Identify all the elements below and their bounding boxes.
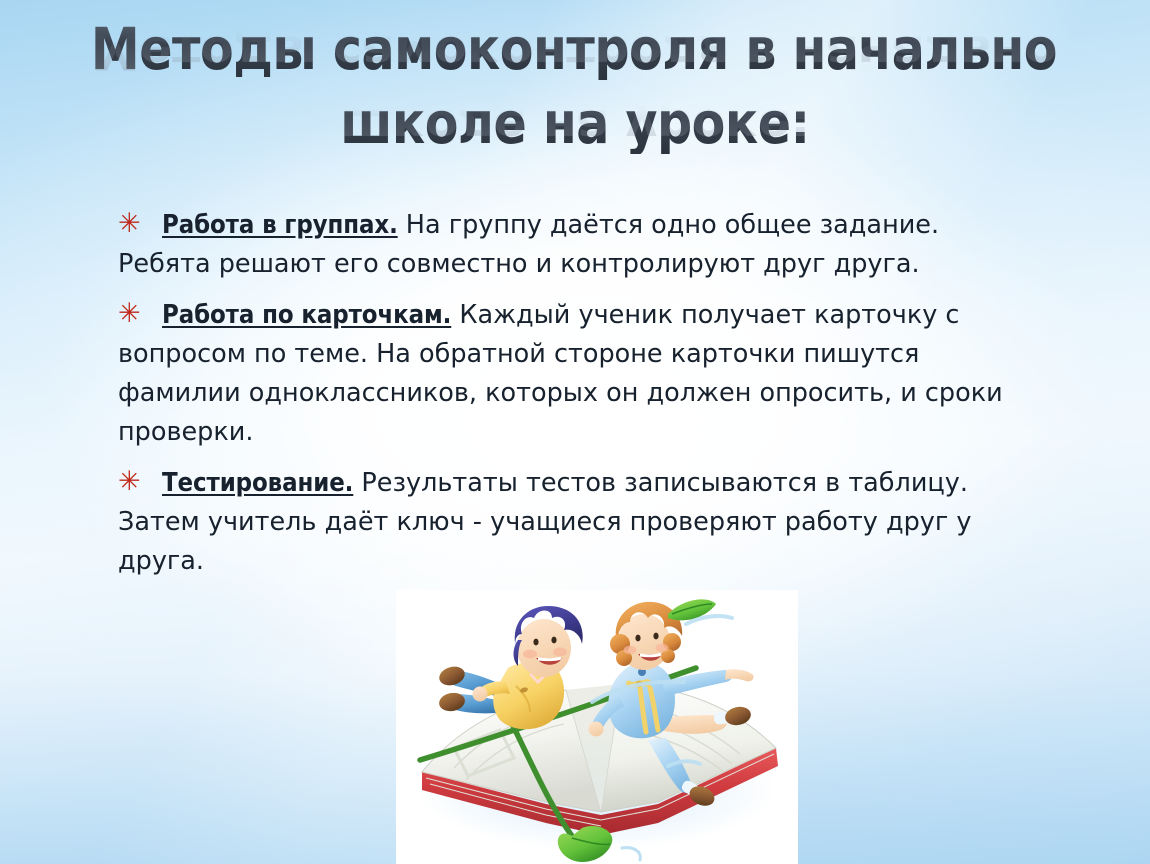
title-line-1: Методы самоконтроля в начальной — [91, 18, 1059, 80]
girl-cheek-right — [656, 644, 669, 652]
title-line-2: школе на уроке: — [91, 92, 1059, 154]
boy-eye-left — [533, 639, 538, 646]
body-text-block: ✳Работа в группах. На группу даётся одно… — [118, 206, 1028, 581]
page-title: Методы самоконтроля в начальной Методы с… — [60, 18, 1090, 166]
boy-cheek-right — [553, 648, 567, 657]
paragraph-2-lead: Работа по карточкам. — [162, 300, 451, 330]
boy-cheek-left — [523, 650, 537, 659]
girl-eye-right — [653, 633, 658, 640]
paragraph-3-lead: Тестирование. — [162, 468, 353, 498]
bullet-paragraph-2: ✳Работа по карточкам. Каждый ученик полу… — [118, 296, 1028, 452]
girl-eye-left — [635, 635, 640, 642]
bullet-paragraph-1: ✳Работа в группах. На группу даётся одно… — [118, 206, 1028, 284]
boy-hand — [473, 687, 488, 702]
title-line-2-wrapper: школе на уроке: школе на уроке: — [60, 92, 1090, 166]
asterisk-bullet-icon: ✳ — [118, 294, 144, 333]
bullet-paragraph-3: ✳Тестирование. Результаты тестов записыв… — [118, 464, 1028, 581]
asterisk-bullet-icon: ✳ — [118, 462, 144, 501]
illustration-image — [396, 590, 798, 864]
asterisk-bullet-icon: ✳ — [118, 204, 144, 243]
flying-book-illustration — [396, 590, 798, 864]
paragraph-1-lead: Работа в группах. — [162, 210, 398, 240]
boy-eye-right — [551, 637, 556, 644]
girl-cheek-left — [624, 646, 637, 654]
title-line-1-wrapper: Методы самоконтроля в начальной Методы с… — [60, 18, 1090, 92]
girl-hand-back — [589, 722, 604, 737]
slide-canvas: Методы самоконтроля в начальной Методы с… — [0, 0, 1150, 864]
